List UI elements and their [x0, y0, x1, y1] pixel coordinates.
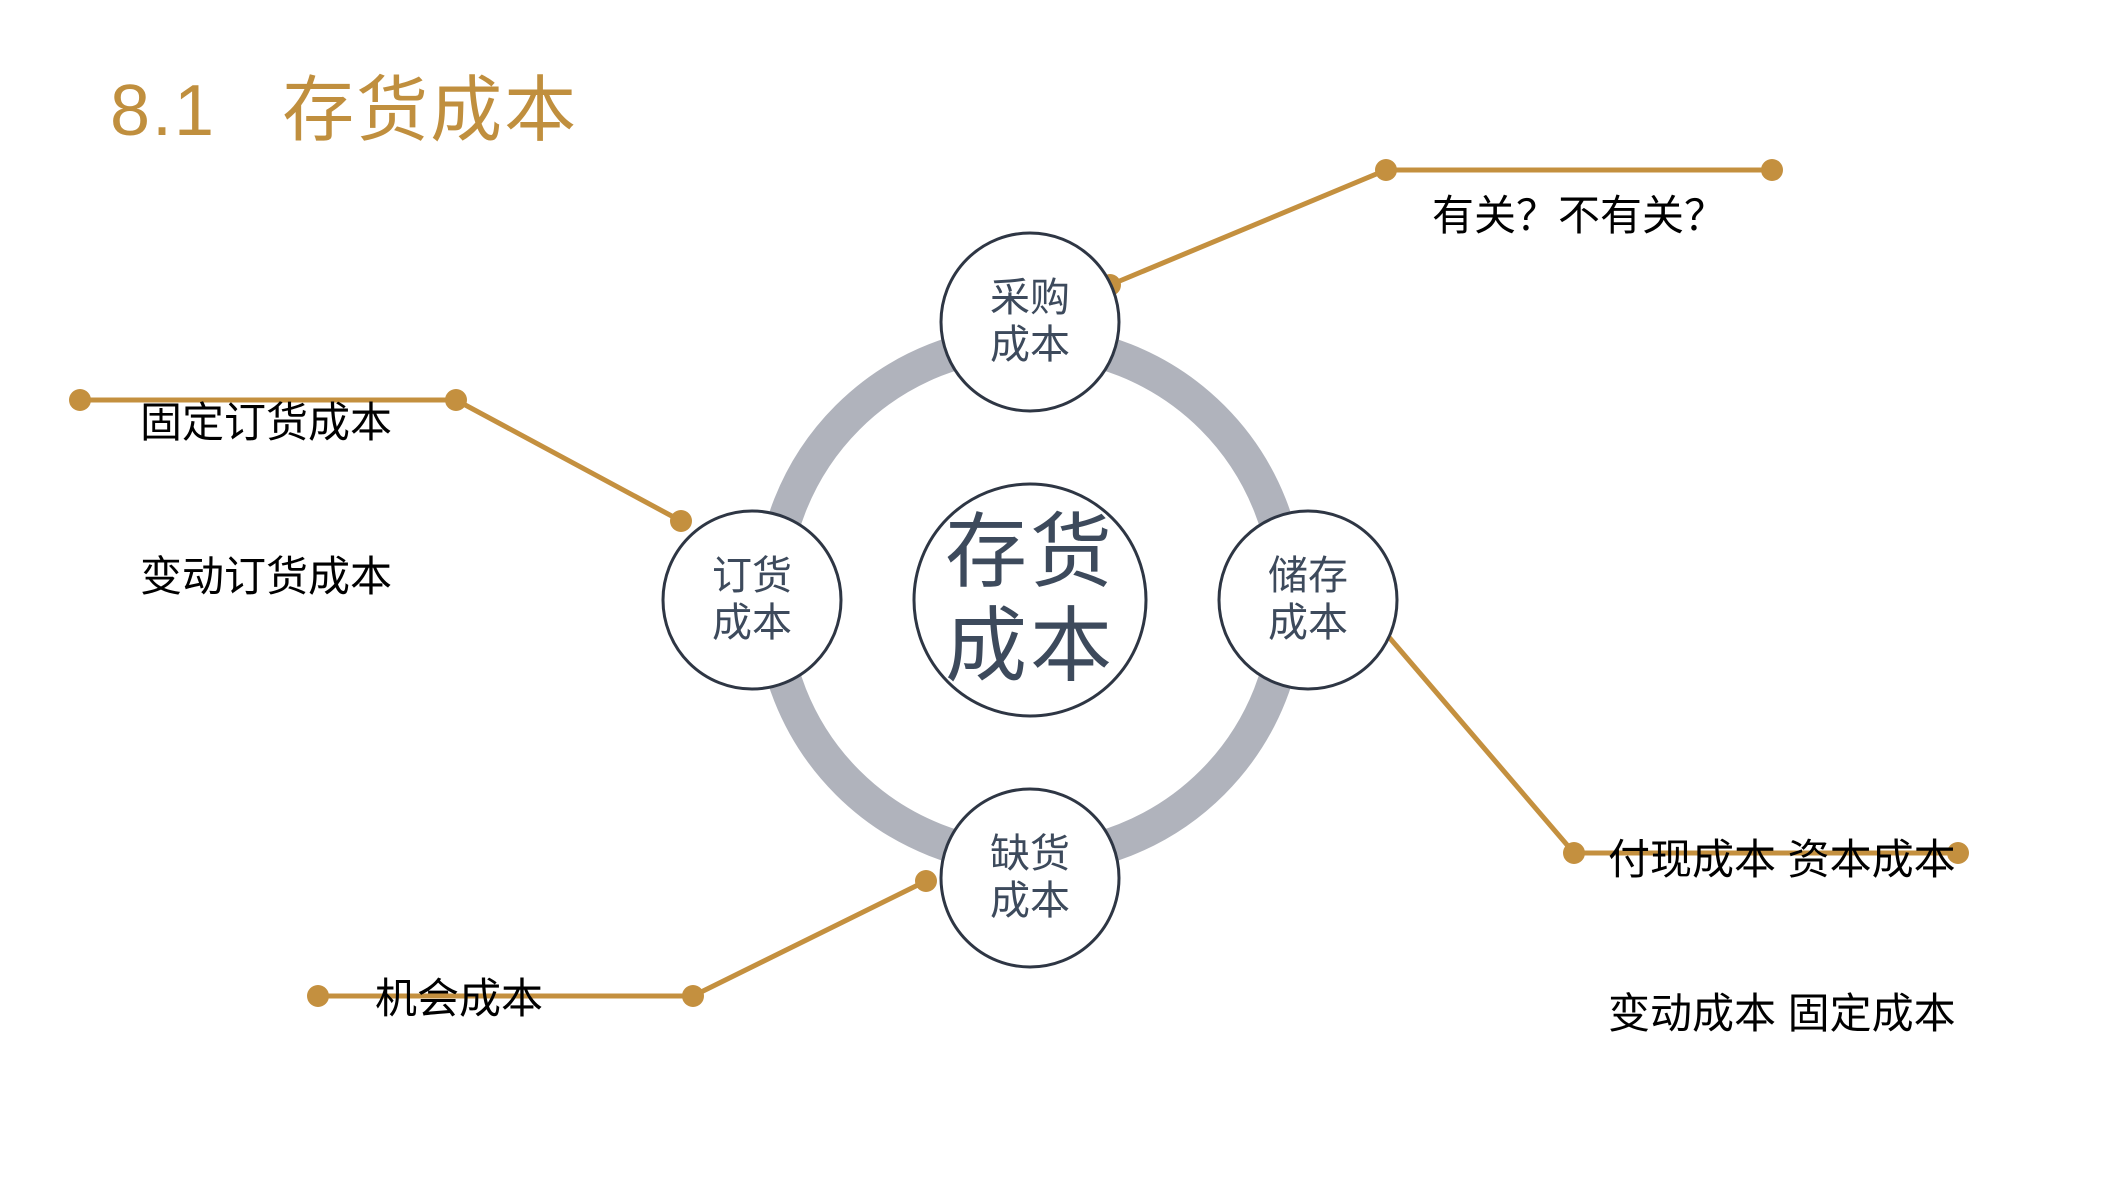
callout-shortage-line1: 机会成本 [375, 973, 543, 1024]
callout-storage-line2: 变动成本 固定成本 [1608, 988, 1956, 1039]
slide-canvas: 8.1 存货成本 [0, 0, 2109, 1186]
center-node-circle[interactable] [914, 484, 1146, 716]
callout-order-line2: 变动订货成本 [140, 551, 392, 602]
node-circle-storage[interactable] [1219, 511, 1397, 689]
callout-order-cost: 固定订货成本 变动订货成本 [140, 295, 392, 705]
callout-purchase-cost: 有关？不有关？ [1432, 88, 1726, 344]
callout-purchase-line1: 有关？不有关？ [1432, 190, 1726, 241]
callout-storage-cost: 付现成本 资本成本 变动成本 固定成本 [1608, 732, 1956, 1142]
callout-order-line1: 固定订货成本 [140, 397, 392, 448]
callout-storage-line1: 付现成本 资本成本 [1608, 834, 1956, 885]
callout-shortage-cost: 机会成本 [375, 871, 543, 1127]
node-circle-order[interactable] [663, 511, 841, 689]
node-circle-shortage[interactable] [941, 789, 1119, 967]
node-circle-purchase[interactable] [941, 233, 1119, 411]
